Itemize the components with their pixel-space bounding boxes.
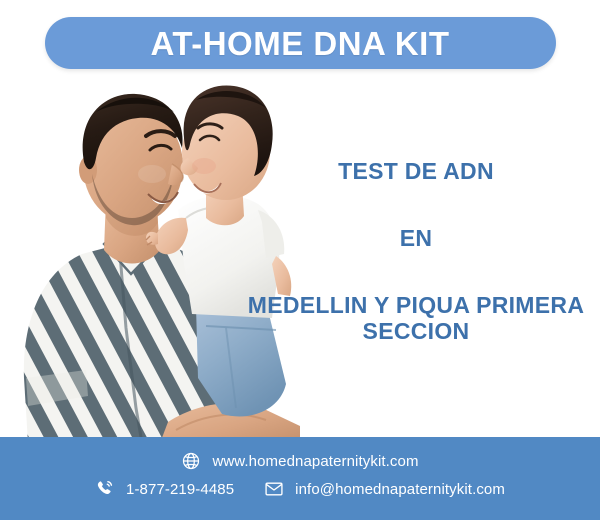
headline-line-3: MEDELLIN Y PIQUA PRIMERA SECCION (232, 292, 600, 345)
envelope-icon (264, 479, 284, 499)
phone-icon (95, 479, 115, 499)
headline-line-1: TEST DE ADN (232, 158, 600, 184)
header-badge: AT-HOME DNA KIT (45, 17, 556, 69)
phone-label: 1-877-219-4485 (126, 482, 234, 497)
globe-icon (181, 451, 201, 471)
footer-row-phone-email: 1-877-219-4485 info@homednapaternitykit.… (0, 479, 600, 499)
headline-block: TEST DE ADN EN MEDELLIN Y PIQUA PRIMERA … (232, 158, 600, 345)
phone-contact-item[interactable]: 1-877-219-4485 (95, 479, 234, 499)
footer-row-website: www.homednapaternitykit.com (0, 451, 600, 471)
dna-test-promo-banner: AT-HOME DNA KIT (0, 0, 600, 520)
website-contact-item[interactable]: www.homednapaternitykit.com (181, 451, 418, 471)
header-badge-container: AT-HOME DNA KIT (0, 17, 600, 69)
contact-footer: www.homednapaternitykit.com 1-877-219-44… (0, 437, 600, 520)
website-label: www.homednapaternitykit.com (212, 454, 418, 469)
email-contact-item[interactable]: info@homednapaternitykit.com (264, 479, 505, 499)
header-badge-label: AT-HOME DNA KIT (151, 27, 450, 60)
headline-line-2: EN (232, 225, 600, 251)
email-label: info@homednapaternitykit.com (295, 482, 505, 497)
